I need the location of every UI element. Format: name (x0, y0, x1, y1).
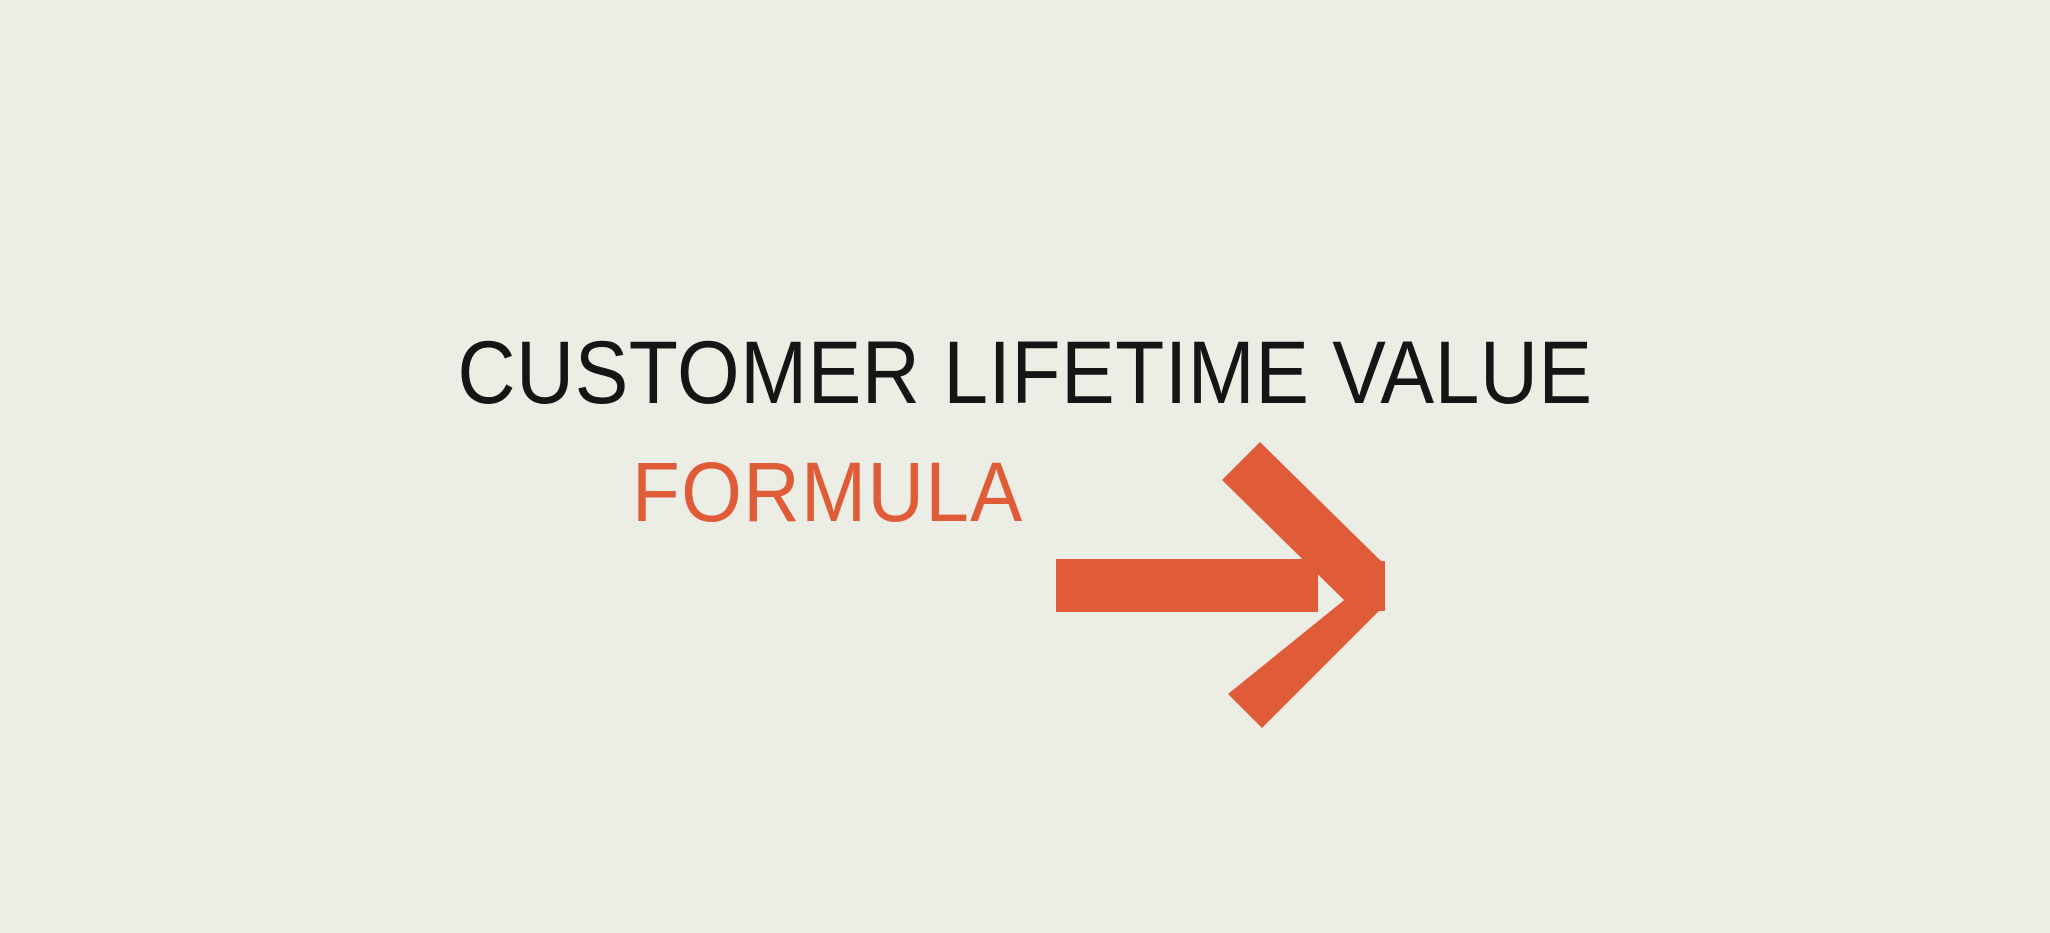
page-title: CUSTOMER LIFETIME VALUE (97, 322, 1952, 422)
headline-group: CUSTOMER LIFETIME VALUE FORMULA (0, 0, 2050, 933)
arrow-right-icon (1040, 425, 1410, 745)
slide-canvas: CUSTOMER LIFETIME VALUE FORMULA (0, 0, 2050, 933)
page-subtitle: FORMULA (0, 444, 1781, 540)
